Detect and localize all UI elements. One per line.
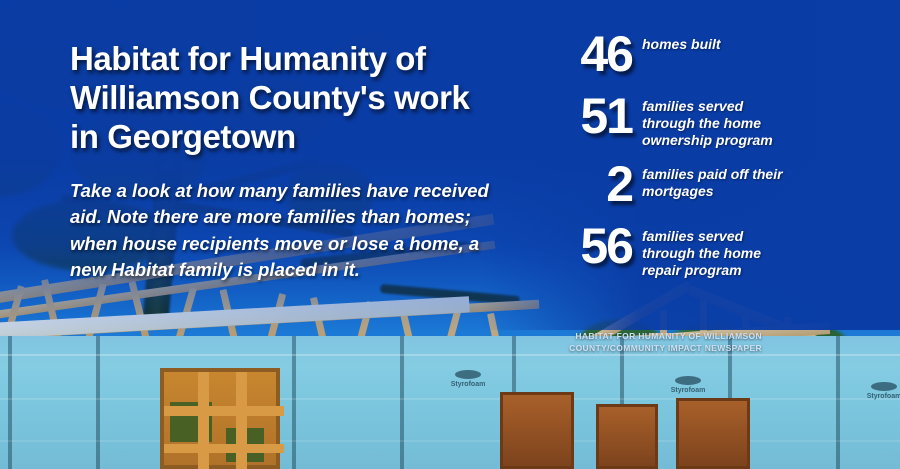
stat-label-line: homes built — [642, 36, 721, 53]
stat-label-line: families served — [642, 228, 761, 245]
stat-label-line: mortgages — [642, 183, 783, 200]
stat-label: families served through the home repair … — [642, 222, 761, 278]
stat-item: 46 homes built — [548, 30, 878, 78]
stat-label-line: families served — [642, 98, 773, 115]
stat-number: 46 — [548, 30, 632, 78]
subtitle-line-3: when house recipients move or lose a hom… — [70, 231, 540, 257]
stat-label: families served through the home ownersh… — [642, 92, 773, 148]
stat-label-line: ownership program — [642, 132, 773, 149]
subtitle-line-4: new Habitat family is placed in it. — [70, 257, 540, 283]
subtitle-line-1: Take a look at how many families have re… — [70, 178, 540, 204]
headline-line-3: in Georgetown — [70, 118, 540, 157]
headline-line-2: Williamson County's work — [70, 79, 540, 118]
stat-label-line: through the home — [642, 245, 761, 262]
stat-item: 51 families served through the home owne… — [548, 92, 878, 148]
stat-label: homes built — [642, 30, 721, 53]
stat-number: 56 — [548, 222, 632, 270]
credit-line-2: COUNTY/COMMUNITY IMPACT NEWSPAPER — [440, 342, 762, 354]
stat-item: 56 families served through the home repa… — [548, 222, 878, 278]
page-title: Habitat for Humanity of Williamson Count… — [70, 40, 540, 157]
headline-line-1: Habitat for Humanity of — [70, 40, 540, 79]
content-layer: Habitat for Humanity of Williamson Count… — [0, 0, 900, 469]
stat-label-line: families paid off their — [642, 166, 783, 183]
stat-item: 2 families paid off their mortgages — [548, 160, 878, 208]
credit-line-1: HABITAT FOR HUMANITY OF WILLIAMSON — [440, 330, 762, 342]
statistics-list: 46 homes built 51 families served throug… — [548, 30, 878, 279]
subtitle-line-2: aid. Note there are more families than h… — [70, 204, 540, 230]
subtitle: Take a look at how many families have re… — [70, 178, 540, 283]
stat-label-line: repair program — [642, 262, 761, 279]
infographic-root: Styrofoam Styrofoam Styrofoam Styrofoam — [0, 0, 900, 469]
stat-label-line: through the home — [642, 115, 773, 132]
stat-number: 51 — [548, 92, 632, 140]
stat-label: families paid off their mortgages — [642, 160, 783, 200]
stat-number: 2 — [548, 160, 632, 208]
source-credit: HABITAT FOR HUMANITY OF WILLIAMSON COUNT… — [440, 330, 762, 355]
